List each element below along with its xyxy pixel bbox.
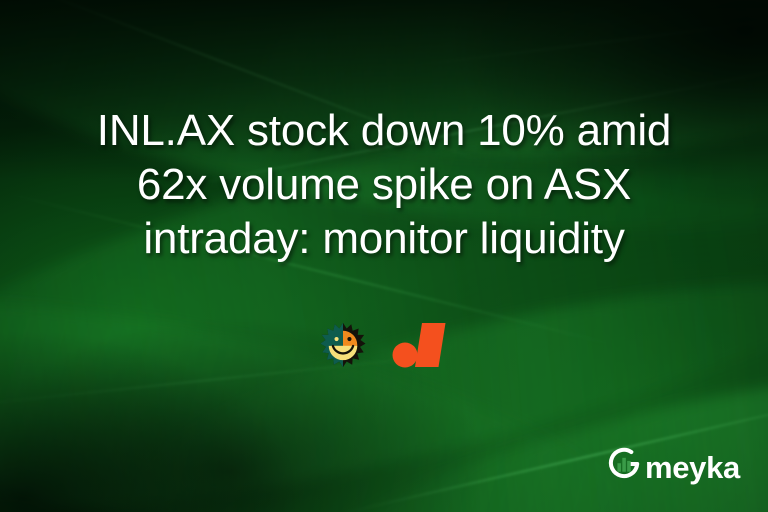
meyka-wordmark: meyka <box>645 452 740 483</box>
spiky-sun-face-logo <box>320 322 366 373</box>
headline-text: INL.AX stock down 10% amid 62x volume sp… <box>0 104 768 266</box>
meyka-chart-ring-icon <box>607 447 641 486</box>
social-card-canvas: INL.AX stock down 10% amid 62x volume sp… <box>0 0 768 512</box>
meyka-brand-lockup: meyka <box>607 447 740 486</box>
orange-a-mark-logo <box>392 321 448 374</box>
logo-row <box>0 318 768 376</box>
